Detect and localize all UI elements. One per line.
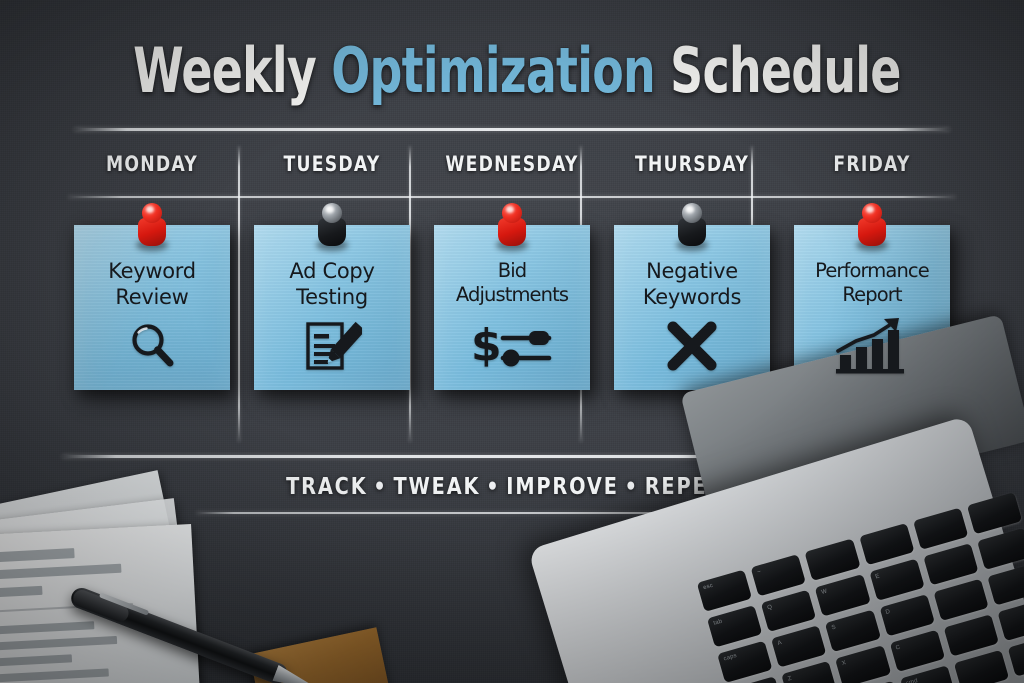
dollar-sliders-icon: $ [434, 316, 590, 376]
magnifying-glass-icon [74, 316, 230, 376]
chalk-rule-top [74, 128, 950, 131]
key[interactable] [997, 599, 1024, 641]
key[interactable]: E [869, 559, 925, 601]
day-header-monday: MONDAY [78, 152, 226, 188]
chalk-rule-under-days [68, 196, 956, 198]
day-header-row: MONDAY TUESDAY WEDNESDAY THURSDAY FRIDAY [62, 152, 962, 188]
key[interactable] [977, 528, 1024, 570]
key[interactable]: S [825, 610, 881, 652]
day-header-thursday: THURSDAY [618, 152, 766, 188]
pushpin-black-icon[interactable] [674, 203, 710, 257]
title-part-weekly: Weekly [133, 34, 316, 107]
key[interactable] [987, 563, 1024, 605]
day-header-tuesday: TUESDAY [258, 152, 406, 188]
note-text-wednesday: Bid Adjustments [436, 259, 588, 307]
key[interactable] [1007, 634, 1024, 676]
key[interactable]: A [771, 625, 827, 667]
key[interactable]: C [889, 630, 945, 672]
note-cell-tuesday: Ad Copy Testing [242, 225, 422, 390]
key[interactable]: Q [761, 590, 817, 632]
pushpin-red-icon[interactable] [134, 203, 170, 257]
pushpin-red-icon[interactable] [854, 203, 890, 257]
tagline-item-tweak: TWEAK [393, 474, 480, 500]
day-header-friday: FRIDAY [798, 152, 946, 188]
sticky-note-row: Keyword Review Ad Copy Testing [62, 225, 962, 390]
tagline-separator: • [368, 474, 394, 500]
tagline-separator: • [619, 474, 645, 500]
key[interactable] [953, 650, 1009, 683]
tagline-item-track: TRACK [286, 474, 367, 500]
page-title: Weekly Optimization Schedule [133, 40, 891, 102]
sticky-note-tuesday[interactable]: Ad Copy Testing [254, 225, 410, 390]
key[interactable]: W [815, 574, 871, 616]
note-cell-monday: Keyword Review [62, 225, 242, 390]
pushpin-red-icon[interactable] [494, 203, 530, 257]
key[interactable]: tab [707, 605, 763, 647]
sticky-note-wednesday[interactable]: Bid Adjustments $ [434, 225, 590, 390]
note-cell-wednesday: Bid Adjustments $ [422, 225, 602, 390]
note-text-thursday: Negative Keywords [616, 259, 768, 310]
key[interactable] [943, 614, 999, 656]
key[interactable] [923, 543, 979, 585]
key[interactable]: D [879, 594, 935, 636]
svg-text:$: $ [471, 320, 502, 371]
schedule-poster: Weekly Optimization Schedule MONDAY TUES… [0, 0, 1024, 683]
title-part-optimization: Optimization [331, 34, 655, 107]
note-text-friday: Performance Report [796, 259, 948, 307]
key[interactable]: X [835, 645, 891, 683]
key[interactable]: caps [717, 641, 773, 683]
note-text-monday: Keyword Review [76, 259, 228, 310]
note-cell-friday: Performance Report [782, 225, 962, 390]
sticky-note-monday[interactable]: Keyword Review [74, 225, 230, 390]
sticky-note-friday[interactable]: Performance Report [794, 225, 950, 390]
document-pencil-icon [254, 316, 410, 376]
day-header-wednesday: WEDNESDAY [438, 152, 586, 188]
tagline-item-improve: IMPROVE [506, 474, 618, 500]
sticky-note-thursday[interactable]: Negative Keywords [614, 225, 770, 390]
title-part-schedule: Schedule [670, 34, 900, 107]
tagline-separator: • [480, 474, 506, 500]
note-text-tuesday: Ad Copy Testing [256, 259, 408, 310]
pushpin-black-icon[interactable] [314, 203, 350, 257]
bar-chart-arrow-icon [794, 316, 950, 376]
key[interactable] [933, 579, 989, 621]
x-cross-icon [614, 316, 770, 376]
note-cell-thursday: Negative Keywords [602, 225, 782, 390]
